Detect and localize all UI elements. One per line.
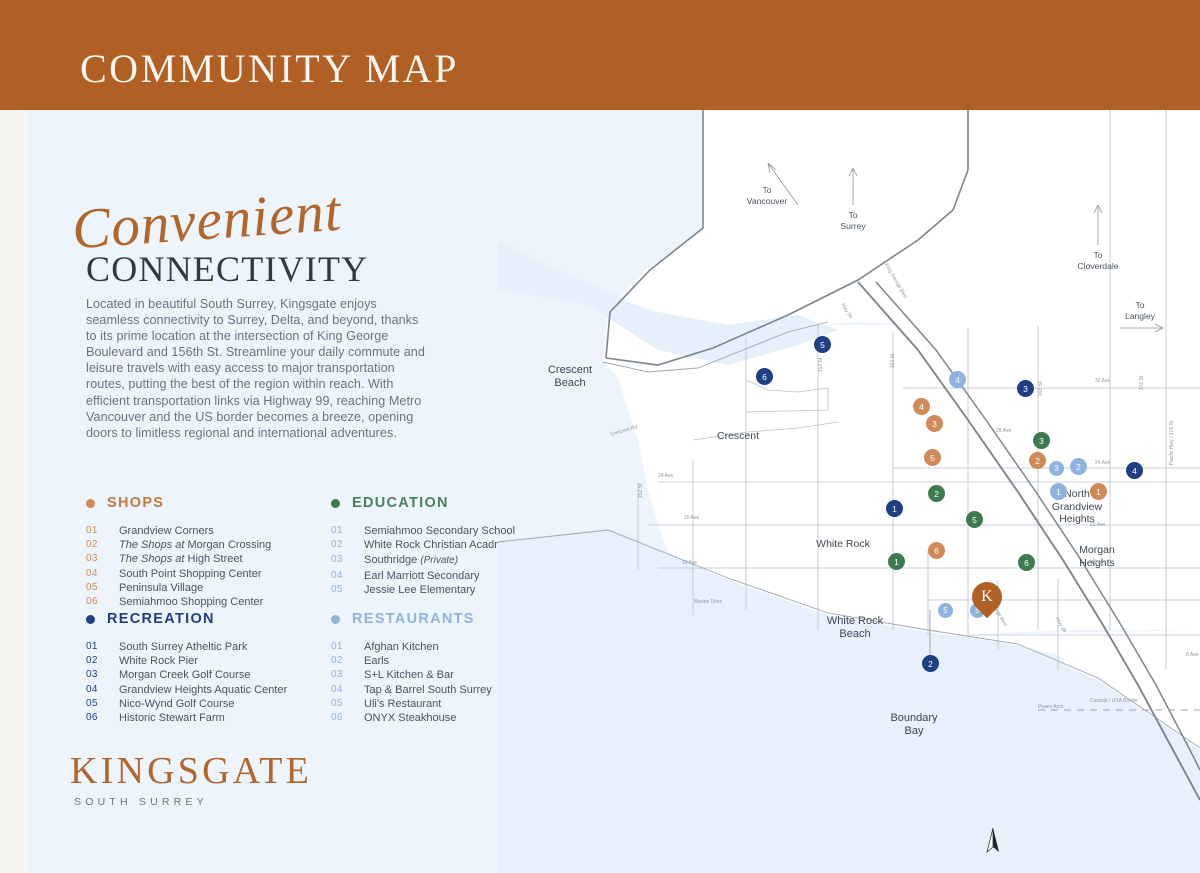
map-canvas: Convenient CONNECTIVITY Located in beaut… — [28, 110, 1200, 873]
street-label: 176 St — [1139, 376, 1145, 390]
list-item[interactable]: 03The Shops at High Street — [86, 552, 271, 566]
item-label: Grandview Corners — [119, 524, 214, 538]
map-graphic[interactable]: Crescent Beach Crescent White Rock White… — [498, 110, 1200, 873]
map-marker-restaurants-2[interactable]: 2 — [1070, 458, 1087, 475]
street-label-usa-border: Canada / USA Border — [1090, 698, 1138, 704]
marker-number: 3 — [1023, 384, 1028, 394]
item-label: Semiahmoo Shopping Center — [119, 595, 263, 609]
street-label-peace-arch: Peace Arch — [1038, 704, 1064, 710]
list-item[interactable]: 05Peninsula Village — [86, 581, 271, 595]
direction-label-cloverdale: To Cloverdale — [1066, 250, 1130, 271]
item-number: 04 — [86, 683, 119, 697]
pin-teardrop-icon: K — [966, 576, 1008, 618]
marker-number: 2 — [1076, 462, 1081, 472]
place-label-crescent-beach: Crescent Beach — [530, 364, 610, 389]
marker-number: 5 — [820, 340, 825, 350]
list-item[interactable]: 06ONYX Steakhouse — [331, 711, 492, 725]
street-label: Pacific Hwy / 176 St — [1169, 421, 1175, 465]
item-label: Jessie Lee Elementary — [364, 583, 475, 597]
item-number: 01 — [86, 640, 119, 654]
marker-number: 1 — [1056, 487, 1061, 497]
map-marker-recreation-1[interactable]: 1 — [886, 500, 903, 517]
pin-letter: K — [981, 588, 993, 606]
legend-recreation: RECREATION 01South Surrey Atheltic Park … — [86, 611, 287, 725]
direction-label-surrey: To Surrey — [826, 210, 880, 231]
item-number: 02 — [331, 538, 364, 553]
list-item[interactable]: 04Tap & Barrel South Surrey — [331, 683, 492, 697]
marker-number: 4 — [955, 375, 960, 385]
marker-number: 2 — [928, 659, 933, 669]
education-dot-icon — [331, 499, 340, 508]
list-item[interactable]: 06Historic Stewart Farm — [86, 711, 287, 725]
item-label: Morgan Creek Golf Course — [119, 668, 250, 682]
item-number: 01 — [331, 640, 364, 654]
item-number: 03 — [86, 552, 119, 566]
item-label: Uli's Restaurant — [364, 697, 441, 711]
marker-number: 3 — [1039, 436, 1044, 446]
marker-number: 4 — [919, 402, 924, 412]
marker-number: 6 — [762, 372, 767, 382]
legend-education-title: EDUCATION — [352, 495, 449, 511]
marker-number: 6 — [1024, 558, 1029, 568]
item-label: ONYX Steakhouse — [364, 711, 456, 725]
map-marker-shops-5[interactable]: 5 — [924, 449, 941, 466]
item-label-prefix: The Shops at — [119, 539, 188, 551]
marker-number: 5 — [972, 515, 977, 525]
item-number: 05 — [331, 583, 364, 597]
map-marker-education-2[interactable]: 2 — [928, 485, 945, 502]
street-label: 16 Ave — [1091, 560, 1106, 566]
item-label: Earls — [364, 654, 389, 668]
place-label-white-rock: White Rock — [801, 538, 885, 551]
map-marker-recreation-2[interactable]: 2 — [922, 655, 939, 672]
marker-number: 1 — [892, 504, 897, 514]
marker-number: 3 — [932, 419, 937, 429]
item-label: White Rock Pier — [119, 654, 198, 668]
legend-recreation-header: RECREATION — [86, 611, 287, 627]
map-marker-restaurants-1[interactable]: 1 — [1050, 483, 1067, 500]
item-number: 05 — [86, 581, 119, 595]
list-item[interactable]: 01Afghan Kitchen — [331, 640, 492, 654]
list-item[interactable]: 01Grandview Corners — [86, 524, 271, 538]
list-item[interactable]: 03S+L Kitchen & Bar — [331, 668, 492, 682]
street-label: 20 Ave — [1090, 522, 1105, 528]
map-marker-recreation-4[interactable]: 4 — [1126, 462, 1143, 479]
item-number: 01 — [86, 524, 119, 538]
marker-number: 1 — [894, 557, 899, 567]
community-map-page: COMMUNITY MAP Convenient CONNECTIVITY Lo… — [0, 0, 1200, 873]
legend-shops-header: SHOPS — [86, 495, 271, 511]
street-label: 160 St — [890, 354, 896, 368]
item-label-main: Morgan Crossing — [188, 539, 272, 551]
item-number: 02 — [86, 538, 119, 552]
brand-name: KINGSGATE — [70, 749, 312, 793]
shops-dot-icon — [86, 499, 95, 508]
item-label: Earl Marriott Secondary — [364, 569, 480, 583]
item-number: 04 — [331, 569, 364, 583]
item-label: Grandview Heights Aquatic Center — [119, 683, 287, 697]
item-label: The Shops at High Street — [119, 552, 243, 566]
street-label: 152 St — [818, 358, 824, 372]
list-item[interactable]: 02The Shops at Morgan Crossing — [86, 538, 271, 552]
item-label: Historic Stewart Farm — [119, 711, 225, 725]
item-number: 03 — [331, 668, 364, 682]
map-marker-restaurants-5a[interactable]: 5 — [938, 603, 953, 618]
place-label-white-rock-beach: White Rock Beach — [810, 615, 900, 640]
marker-number: 1 — [1096, 487, 1101, 497]
item-number: 06 — [331, 711, 364, 725]
map-marker-restaurants-3[interactable]: 3 — [1049, 461, 1064, 476]
legend-shops-title: SHOPS — [107, 495, 164, 511]
map-marker-shops-6[interactable]: 6 — [928, 542, 945, 559]
header-band: COMMUNITY MAP — [0, 0, 1200, 110]
legend-restaurants-header: RESTAURANTS — [331, 611, 492, 627]
street-label: 16 Ave — [682, 560, 697, 566]
map-marker-shops-2[interactable]: 2 — [1029, 452, 1046, 469]
map-marker-education-6[interactable]: 6 — [1018, 554, 1035, 571]
item-label-main: High Street — [188, 553, 243, 565]
item-label: South Surrey Atheltic Park — [119, 640, 247, 654]
legend-restaurants-list: 01Afghan Kitchen 02Earls 03S+L Kitchen &… — [331, 640, 492, 725]
place-label-boundary-bay: Boundary Bay — [876, 712, 952, 737]
legend-shops-list: 01Grandview Corners 02The Shops at Morga… — [86, 524, 271, 609]
item-label: The Shops at Morgan Crossing — [119, 538, 271, 552]
list-item[interactable]: 05Nico-Wynd Golf Course — [86, 697, 287, 711]
recreation-dot-icon — [86, 615, 95, 624]
item-label-main: White Rock Christian Acadmey — [364, 539, 515, 551]
list-item[interactable]: 03Morgan Creek Golf Course — [86, 668, 287, 682]
item-label: Tap & Barrel South Surrey — [364, 683, 492, 697]
item-label-suffix: (Private) — [420, 555, 458, 566]
item-number: 02 — [331, 654, 364, 668]
item-label: Peninsula Village — [119, 581, 203, 595]
list-item[interactable]: 06Semiahmoo Shopping Center — [86, 595, 271, 609]
legend-restaurants: RESTAURANTS 01Afghan Kitchen 02Earls 03S… — [331, 611, 492, 725]
item-label: South Point Shopping Center — [119, 567, 262, 581]
marker-number: 4 — [1132, 466, 1137, 476]
street-label: 24 Ave — [658, 473, 673, 479]
kingsgate-site-pin[interactable]: K — [972, 582, 1002, 620]
item-label: Semiahmoo Secondary School — [364, 524, 515, 538]
street-label: 28 Ave — [996, 428, 1011, 434]
map-marker-education-3[interactable]: 3 — [1033, 432, 1050, 449]
street-label: 8 Ave — [1186, 652, 1198, 658]
item-number: 02 — [86, 654, 119, 668]
item-number: 01 — [331, 524, 364, 538]
map-marker-recreation-5[interactable]: 5 — [814, 336, 831, 353]
map-marker-shops-4[interactable]: 4 — [913, 398, 930, 415]
list-item[interactable]: 04South Point Shopping Center — [86, 567, 271, 581]
item-label-prefix: The Shops at — [119, 553, 188, 565]
item-label: Nico-Wynd Golf Course — [119, 697, 234, 711]
item-number: 03 — [86, 668, 119, 682]
brand-subtitle: SOUTH SURREY — [74, 796, 208, 808]
item-label-main: Southridge — [364, 554, 417, 566]
map-marker-shops-3[interactable]: 3 — [926, 415, 943, 432]
place-label-crescent: Crescent — [698, 430, 778, 443]
marker-number: 5 — [943, 606, 947, 615]
list-item[interactable]: 02Earls — [331, 654, 492, 668]
intro-paragraph: Located in beautiful South Surrey, Kings… — [86, 296, 426, 441]
map-marker-education-5[interactable]: 5 — [966, 511, 983, 528]
legend-restaurants-title: RESTAURANTS — [352, 611, 475, 627]
map-marker-restaurants-4[interactable]: 4 — [949, 371, 966, 388]
map-marker-recreation-3[interactable]: 3 — [1017, 380, 1034, 397]
item-label: Southridge (Private) — [364, 553, 458, 568]
list-item[interactable]: 05Uli's Restaurant — [331, 697, 492, 711]
list-item[interactable]: 01South Surrey Atheltic Park — [86, 640, 287, 654]
marker-number: 5 — [930, 453, 935, 463]
item-label: Afghan Kitchen — [364, 640, 439, 654]
street-label: 152 St — [638, 484, 644, 498]
item-number: 05 — [331, 697, 364, 711]
legend-recreation-list: 01South Surrey Atheltic Park 02White Roc… — [86, 640, 287, 725]
map-marker-recreation-6[interactable]: 6 — [756, 368, 773, 385]
map-marker-shops-1[interactable]: 1 — [1090, 483, 1107, 500]
list-item[interactable]: 04Grandview Heights Aquatic Center — [86, 683, 287, 697]
item-number: 04 — [331, 683, 364, 697]
legend-shops: SHOPS 01Grandview Corners 02The Shops at… — [86, 495, 271, 609]
street-label: 32 Ave — [1095, 378, 1110, 384]
street-label: 168 St — [1038, 382, 1044, 396]
list-item[interactable]: 02White Rock Pier — [86, 654, 287, 668]
item-label: S+L Kitchen & Bar — [364, 668, 454, 682]
marker-number: 2 — [1035, 456, 1040, 466]
legend-recreation-title: RECREATION — [107, 611, 215, 627]
street-label: 24 Ave — [1095, 460, 1110, 466]
marker-number: 3 — [1054, 464, 1058, 473]
direction-label-vancouver: To Vancouver — [736, 185, 798, 206]
item-number: 03 — [331, 553, 364, 568]
street-label: 20 Ave — [684, 515, 699, 521]
item-number: 06 — [86, 711, 119, 725]
map-marker-education-1[interactable]: 1 — [888, 553, 905, 570]
restaurants-dot-icon — [331, 615, 340, 624]
marker-number: 6 — [934, 546, 939, 556]
item-number: 05 — [86, 697, 119, 711]
direction-label-langley: To Langley — [1112, 300, 1168, 321]
marker-number: 2 — [934, 489, 939, 499]
item-number: 06 — [86, 595, 119, 609]
item-number: 04 — [86, 567, 119, 581]
page-title: COMMUNITY MAP — [80, 45, 459, 92]
street-label: Marine Drive — [694, 599, 722, 605]
